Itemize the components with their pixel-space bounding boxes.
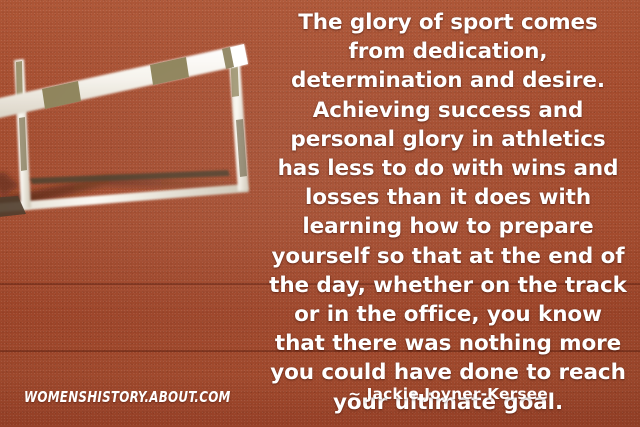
- quote-line: you could have done to reach: [262, 358, 634, 387]
- quote-line: personal glory in athletics: [262, 125, 634, 154]
- quote-line: Achieving success and: [262, 96, 634, 125]
- quote-line: or in the office, you know: [262, 300, 634, 329]
- quote-line: losses than it does with: [262, 183, 634, 212]
- quote-line: The glory of sport comes: [262, 8, 634, 37]
- site-watermark: WOMENSHISTORY.ABOUT.COM: [24, 388, 231, 406]
- quote-line: determination and desire.: [262, 66, 634, 95]
- quote-text-block: The glory of sport comes from dedication…: [262, 8, 634, 417]
- quote-line: yourself so that at the end of: [262, 242, 634, 271]
- quote-line: learning how to prepare: [262, 212, 634, 241]
- quote-line: the day, whether on the track: [262, 271, 634, 300]
- quote-poster: The glory of sport comes from dedication…: [0, 0, 640, 427]
- quote-line: that there was nothing more: [262, 329, 634, 358]
- quote-line: has less to do with wins and: [262, 154, 634, 183]
- quote-attribution: ~ Jackie Joyner-Kersee: [262, 385, 634, 403]
- quote-line: from dedication,: [262, 37, 634, 66]
